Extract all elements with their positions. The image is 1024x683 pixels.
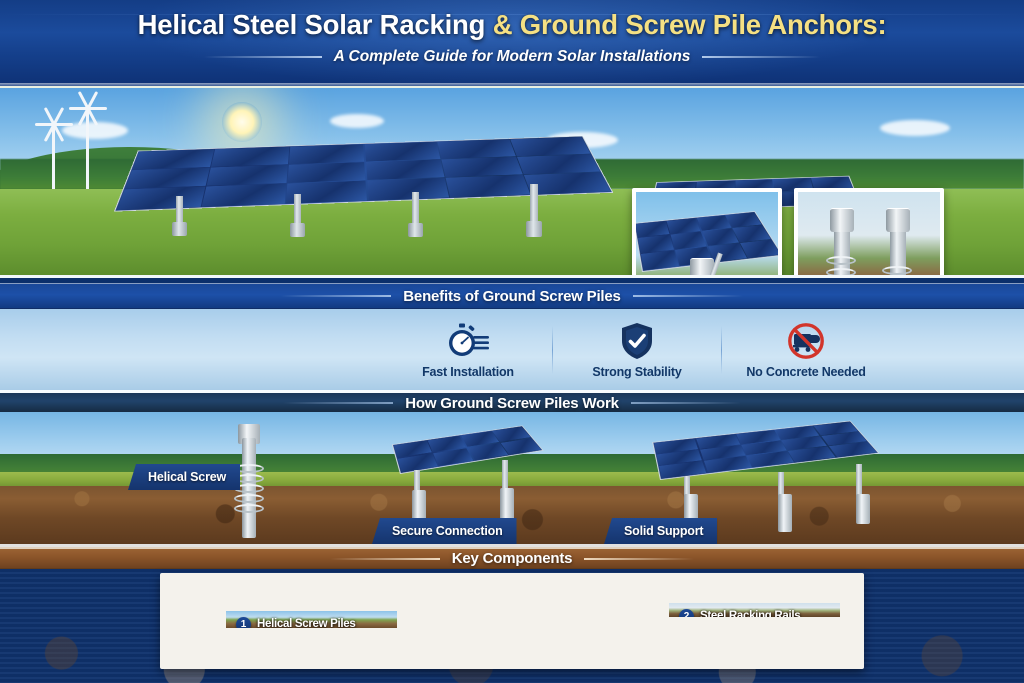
header-rule-left (330, 558, 440, 560)
benefit-no-concrete-needed[interactable]: No Concrete Needed (722, 321, 890, 379)
solar-array-right (660, 424, 900, 494)
key-component-header: 2 Steel Racking Rails (669, 603, 840, 617)
header-rule-left (281, 295, 391, 297)
benefit-label: No Concrete Needed (746, 365, 865, 379)
key-component-card-1[interactable]: 1 Helical Screw Piles (226, 611, 397, 628)
wind-turbine-icon (86, 111, 89, 189)
shield-check-icon (620, 321, 654, 361)
header-rule-right (631, 402, 741, 404)
key-components-heading: Key Components (452, 550, 573, 567)
benefit-fast-installation[interactable]: Fast Installation (384, 321, 552, 379)
title-main-text: Helical Steel Solar Racking (138, 9, 493, 40)
callout-label: Helical Screw (148, 470, 226, 484)
benefit-strong-stability[interactable]: Strong Stability (553, 321, 721, 379)
callout-helical-screw[interactable]: Helical Screw (128, 464, 240, 490)
header-rule-right (584, 558, 694, 560)
solar-array-primary (118, 110, 618, 230)
subtitle-row: A Complete Guide for Modern Solar Instal… (0, 48, 1024, 66)
wind-turbine-icon (52, 127, 55, 189)
key-component-label: Helical Screw Piles (257, 618, 356, 628)
header-rule-right (633, 295, 743, 297)
subtitle-rule-right (702, 56, 820, 58)
stopwatch-icon (446, 321, 490, 361)
benefits-panel: Fast Installation Strong Stability (0, 309, 1024, 393)
solar-array-mid (400, 430, 560, 490)
hero-card-ground-screw-piles[interactable]: Ground Screw Piles (794, 188, 944, 278)
benefits-section-header: Benefits of Ground Screw Piles (0, 283, 1024, 309)
step-number-badge: 1 (236, 617, 251, 629)
header-rule-left (283, 402, 393, 404)
how-it-works-heading: How Ground Screw Piles Work (405, 395, 619, 412)
page-title: Helical Steel Solar Racking & Ground Scr… (0, 0, 1024, 41)
callout-label: Secure Connection (392, 524, 503, 538)
hero-card-image: Helical Steel Racking (636, 192, 778, 278)
callout-solid-support[interactable]: Solid Support (604, 518, 717, 544)
no-concrete-icon (786, 321, 826, 361)
page-subtitle: A Complete Guide for Modern Solar Instal… (334, 48, 691, 66)
key-component-header: 1 Helical Screw Piles (226, 611, 397, 628)
key-components-strip: 1 Helical Screw Piles 2 Steel Racking Ra… (160, 573, 864, 669)
how-it-works-illustration: Helical Screw Secure Connection Solid Su… (0, 412, 1024, 547)
benefit-label: Fast Installation (422, 365, 514, 379)
key-component-card-2[interactable]: 2 Steel Racking Rails (669, 603, 840, 617)
callout-secure-connection[interactable]: Secure Connection (372, 518, 517, 544)
hero-card-helical-steel-racking[interactable]: Helical Steel Racking (632, 188, 782, 278)
how-it-works-section-header: How Ground Screw Piles Work (0, 393, 1024, 414)
hero-illustration: Helical Steel Racking Ground Screw Piles (0, 86, 1024, 278)
step-number-badge: 2 (679, 609, 694, 618)
infographic-poster: Helical Steel Solar Racking & Ground Scr… (0, 0, 1024, 683)
key-component-label: Steel Racking Rails (700, 610, 800, 617)
benefits-row: Fast Installation Strong Stability (0, 309, 1024, 390)
benefits-heading: Benefits of Ground Screw Piles (403, 288, 620, 305)
solar-panel-icon (114, 136, 613, 212)
hero-card-image: Ground Screw Piles (798, 192, 940, 278)
subtitle-rule-left (204, 56, 322, 58)
title-band: Helical Steel Solar Racking & Ground Scr… (0, 0, 1024, 86)
callout-label: Solid Support (624, 524, 703, 538)
key-components-section: Key Components 1 Helical Screw Piles (0, 547, 1024, 683)
cloud-icon (880, 120, 950, 136)
title-accent-text: & Ground Screw Pile Anchors: (493, 9, 887, 40)
key-components-section-header: Key Components (0, 547, 1024, 569)
benefit-label: Strong Stability (592, 365, 681, 379)
